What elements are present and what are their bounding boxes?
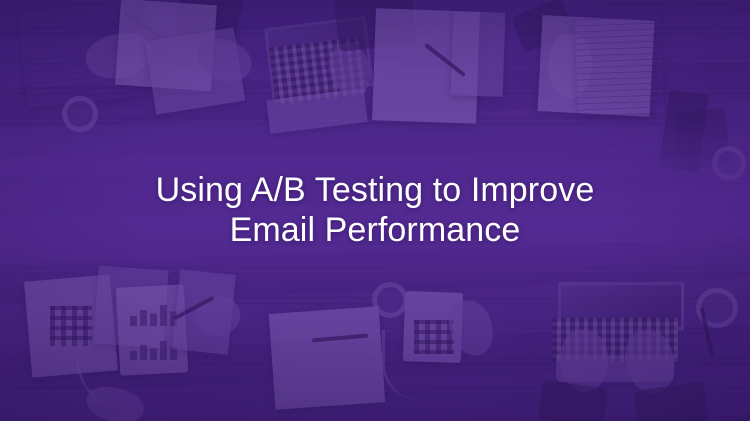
title-slide: Using A/B Testing to Improve Email Perfo…	[0, 0, 750, 421]
title-block: Using A/B Testing to Improve Email Perfo…	[0, 170, 750, 250]
slide-title-line-1: Using A/B Testing to Improve	[156, 171, 595, 209]
slide-title-line-2: Email Performance	[0, 210, 750, 250]
slide-title: Using A/B Testing to Improve Email Perfo…	[0, 170, 750, 250]
